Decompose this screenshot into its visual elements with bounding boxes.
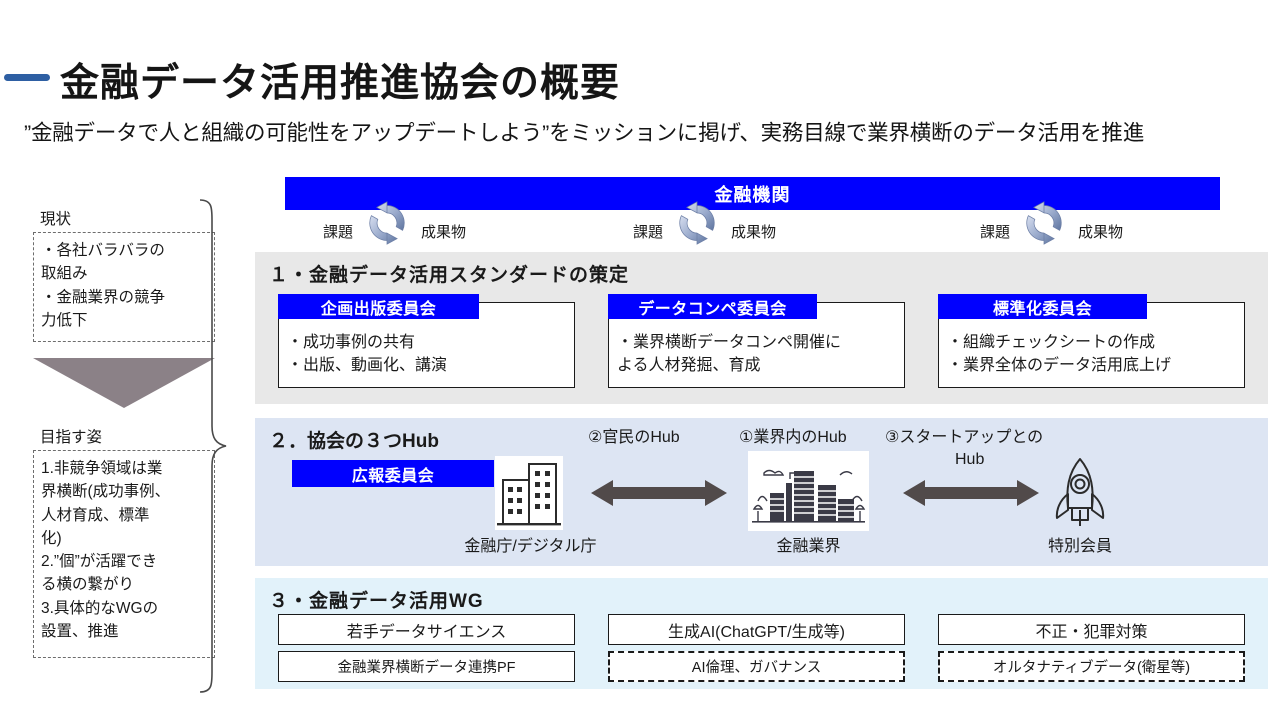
curly-brace-icon [196, 198, 236, 698]
sidebar-current-box: ・各社バラバラの 取組み ・金融業界の競争 力低下 [33, 232, 215, 342]
committee-card-2-body: ・業界横断データコンペ開催に よる人材発掘、育成 [617, 331, 898, 377]
wg-item-4[interactable]: 金融業界横断データ連携PF [278, 651, 575, 682]
hub-label-3: ③スタートアップとの [885, 428, 1043, 448]
committee-card-1: 企画出版委員会 ・成功事例の共有 ・出版、動画化、講演 [278, 302, 575, 388]
cycle-2-right-label: 成果物 [731, 221, 776, 242]
sidebar-current-line-2: 取組み [41, 262, 207, 285]
sidebar-goal-line-3: 人材育成、標準 [41, 504, 207, 527]
page-subtitle: ”金融データで人と組織の可能性をアップデートしよう”をミッションに掲げ、実務目線… [24, 119, 1254, 147]
wg-item-1[interactable]: 若手データサイエンス [278, 614, 575, 645]
financial-institutions-bar: 金融機関 [285, 177, 1220, 210]
cycle-group-3: 課題 成果物 [980, 210, 1123, 252]
cycle-1-right-label: 成果物 [421, 221, 466, 242]
node-3-caption: 特別会員 [1034, 532, 1126, 556]
section-1-panel: １・金融データ活用スタンダードの策定 企画出版委員会 ・成功事例の共有 ・出版、… [255, 252, 1268, 404]
committee-card-1-body: ・成功事例の共有 ・出版、動画化、講演 [287, 331, 568, 377]
section-1-title: １・金融データ活用スタンダードの策定 [269, 260, 629, 287]
financial-institutions-label: 金融機関 [715, 181, 791, 207]
rocket-icon [1044, 454, 1116, 532]
node-1-caption: 金融庁/デジタル庁 [453, 532, 608, 556]
section-2-title: ２．協会の３つHub [269, 426, 439, 453]
pr-committee-badge: 広報委員会 [292, 460, 494, 487]
double-arrow-icon [591, 478, 727, 508]
sidebar-goal-line-5: 2.”個”が活躍でき [41, 550, 207, 573]
cycle-1-left-label: 課題 [323, 221, 353, 242]
section-2-panel: ２．協会の３つHub 広報委員会 ②官民のHub ①業界内のHub ③スタートア… [255, 418, 1268, 566]
committee-card-3-line-1: ・組織チェックシートの作成 [947, 331, 1238, 354]
section-3-panel: ３・金融データ活用WG 若手データサイエンス 生成AI(ChatGPT/生成等)… [255, 578, 1268, 689]
cycle-arrows-icon [669, 200, 725, 246]
sidebar-goal-line-6: る横の繋がり [41, 573, 207, 596]
committee-card-2-head: データコンペ委員会 [608, 294, 817, 319]
down-triangle-icon [33, 358, 215, 408]
cityscape-icon [748, 451, 869, 531]
office-buildings-icon [495, 456, 563, 530]
section-3-title: ３・金融データ活用WG [269, 586, 484, 613]
wg-item-5[interactable]: AI倫理、ガバナンス [608, 651, 905, 682]
committee-card-2-line-2: よる人材発掘、育成 [617, 354, 898, 377]
sidebar-goal-label: 目指す姿 [40, 425, 102, 447]
hub-label-1: ①業界内のHub [739, 428, 847, 448]
wg-item-6[interactable]: オルタナティブデータ(衛星等) [938, 651, 1245, 682]
committee-card-3-line-2: ・業界全体のデータ活用底上げ [947, 354, 1238, 377]
committee-card-3-head: 標準化委員会 [938, 294, 1147, 319]
sidebar-goal-box: 1.非競争領域は業 界横断(成功事例、 人材育成、標準 化) 2.”個”が活躍で… [33, 450, 215, 658]
cycle-arrows-icon [359, 200, 415, 246]
sidebar-goal-line-2: 界横断(成功事例、 [41, 480, 207, 503]
slide-root: 金融データ活用推進協会の概要 ”金融データで人と組織の可能性をアップデートしよう… [0, 0, 1268, 713]
sidebar-current-line-3: ・金融業界の競争 [41, 286, 207, 309]
hub-label-3-line2: Hub [955, 450, 984, 470]
double-arrow-icon [903, 478, 1039, 508]
cycle-group-2: 課題 成果物 [633, 210, 776, 252]
cycle-3-left-label: 課題 [980, 221, 1010, 242]
committee-card-3-body: ・組織チェックシートの作成 ・業界全体のデータ活用底上げ [947, 331, 1238, 377]
sidebar-current-line-4: 力低下 [41, 309, 207, 332]
sidebar-goal-line-4: 化) [41, 527, 207, 550]
committee-card-1-line-1: ・成功事例の共有 [287, 331, 568, 354]
hub-label-2: ②官民のHub [588, 428, 680, 448]
committee-card-1-line-2: ・出版、動画化、講演 [287, 354, 568, 377]
committee-card-2: データコンペ委員会 ・業界横断データコンペ開催に よる人材発掘、育成 [608, 302, 905, 388]
cycle-group-1: 課題 成果物 [323, 210, 466, 252]
cycle-3-right-label: 成果物 [1078, 221, 1123, 242]
wg-item-2[interactable]: 生成AI(ChatGPT/生成等) [608, 614, 905, 645]
cycle-2-left-label: 課題 [633, 221, 663, 242]
node-2-caption: 金融業界 [748, 532, 869, 556]
page-title: 金融データ活用推進協会の概要 [60, 52, 620, 108]
cycle-arrows-icon [1016, 200, 1072, 246]
sidebar-current-label: 現状 [40, 207, 71, 229]
sidebar-current-line-1: ・各社バラバラの [41, 239, 207, 262]
wg-item-3[interactable]: 不正・犯罪対策 [938, 614, 1245, 645]
sidebar-goal-line-1: 1.非競争領域は業 [41, 457, 207, 480]
committee-card-3: 標準化委員会 ・組織チェックシートの作成 ・業界全体のデータ活用底上げ [938, 302, 1245, 388]
sidebar-goal-line-7: 3.具体的なWGの [41, 597, 207, 620]
sidebar-goal-line-8: 設置、推進 [41, 620, 207, 643]
title-accent-dash-icon [4, 74, 50, 81]
committee-card-2-line-1: ・業界横断データコンペ開催に [617, 331, 898, 354]
committee-card-1-head: 企画出版委員会 [278, 294, 479, 319]
cycle-row: 課題 成果物 課題 成果物 課題 成果物 [285, 210, 1220, 252]
